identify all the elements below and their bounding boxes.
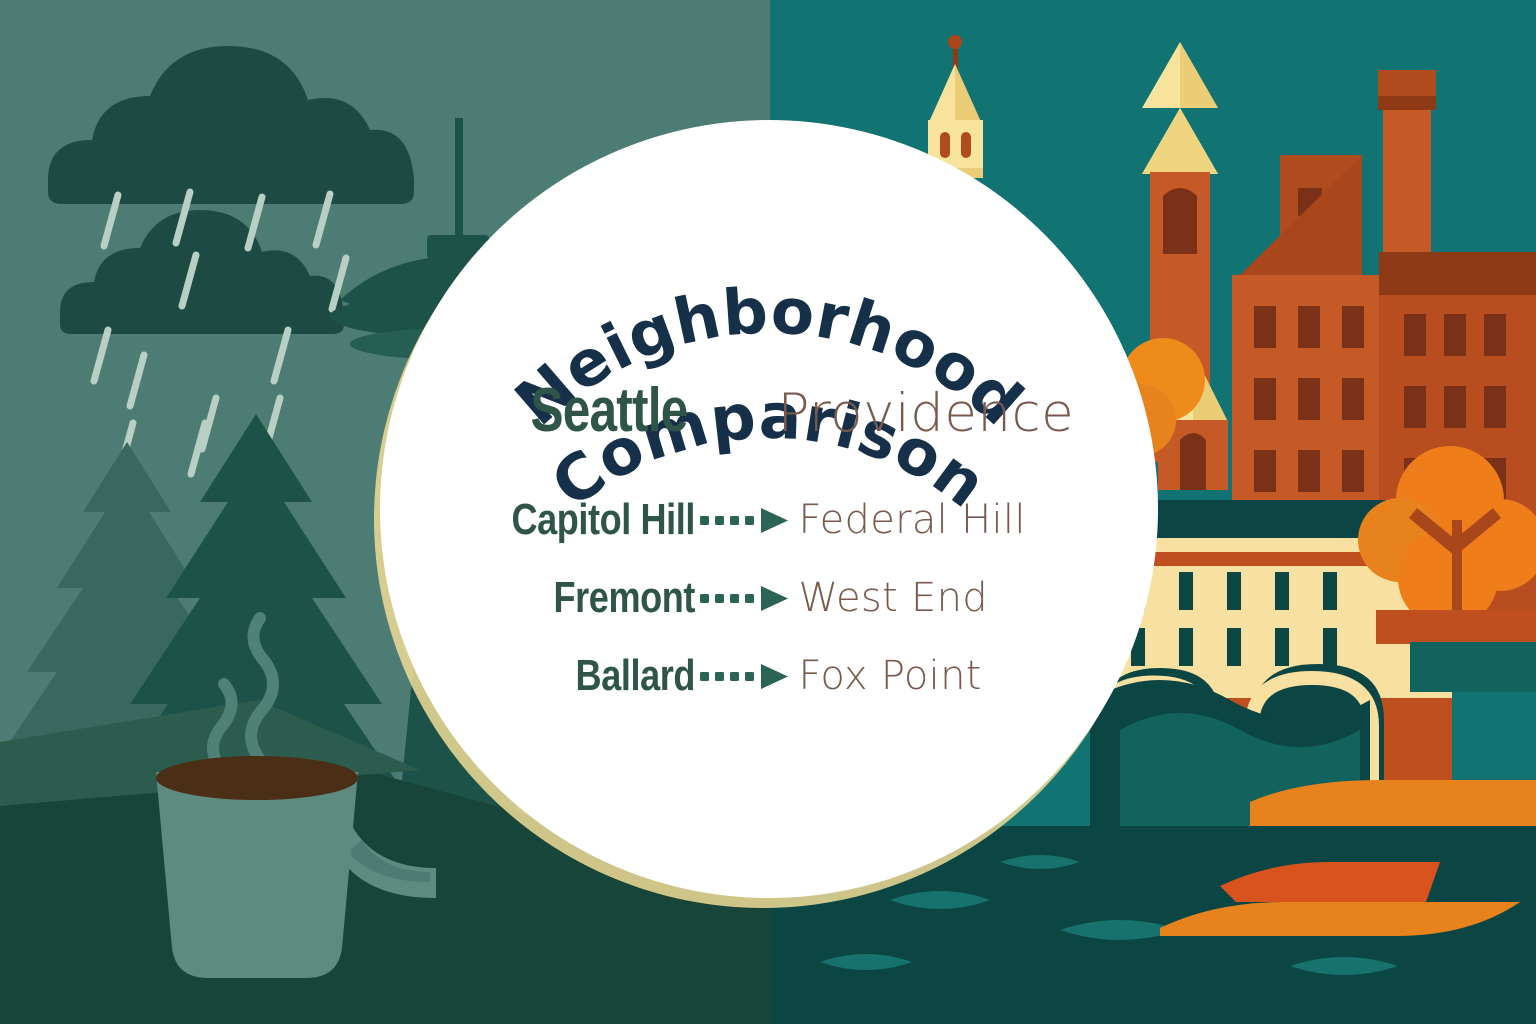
seattle-neighborhood: Capitol Hill <box>461 495 695 545</box>
dotted-arrow-right-icon <box>698 583 792 613</box>
dotted-arrow-right-icon <box>695 661 795 691</box>
seattle-neighborhood: Fremont <box>461 573 695 623</box>
infographic-canvas: Neighborhood Comparison Seattle Providen… <box>0 0 1536 1024</box>
comparison-row: Fremont West End <box>380 573 1158 623</box>
seattle-neighborhood: Ballard <box>461 651 695 701</box>
rain-cloud-icon <box>60 210 344 334</box>
comparison-row: Capitol Hill Federal Hill <box>380 495 1158 545</box>
comparison-rows: Capitol Hill Federal Hill <box>380 495 1158 701</box>
dotted-arrow-right-icon <box>698 505 792 535</box>
providence-neighborhood: Federal Hill <box>795 497 1129 543</box>
rain-cloud-icon <box>48 46 414 204</box>
comparison-row: Ballard Fox Point <box>380 651 1158 701</box>
city-headings: Seattle Providence <box>380 375 1158 446</box>
providence-neighborhood: Fox Point <box>795 653 1129 699</box>
dotted-arrow-right-icon <box>695 505 795 535</box>
dotted-arrow-right-icon <box>695 583 795 613</box>
providence-neighborhood: West End <box>795 575 1129 621</box>
church-spire-icon <box>928 35 983 178</box>
right-city-heading: Providence <box>778 383 1108 444</box>
left-city-heading: Seattle <box>459 375 687 446</box>
dotted-arrow-right-icon <box>698 661 792 691</box>
comparison-card: Neighborhood Comparison Seattle Providen… <box>380 120 1158 898</box>
